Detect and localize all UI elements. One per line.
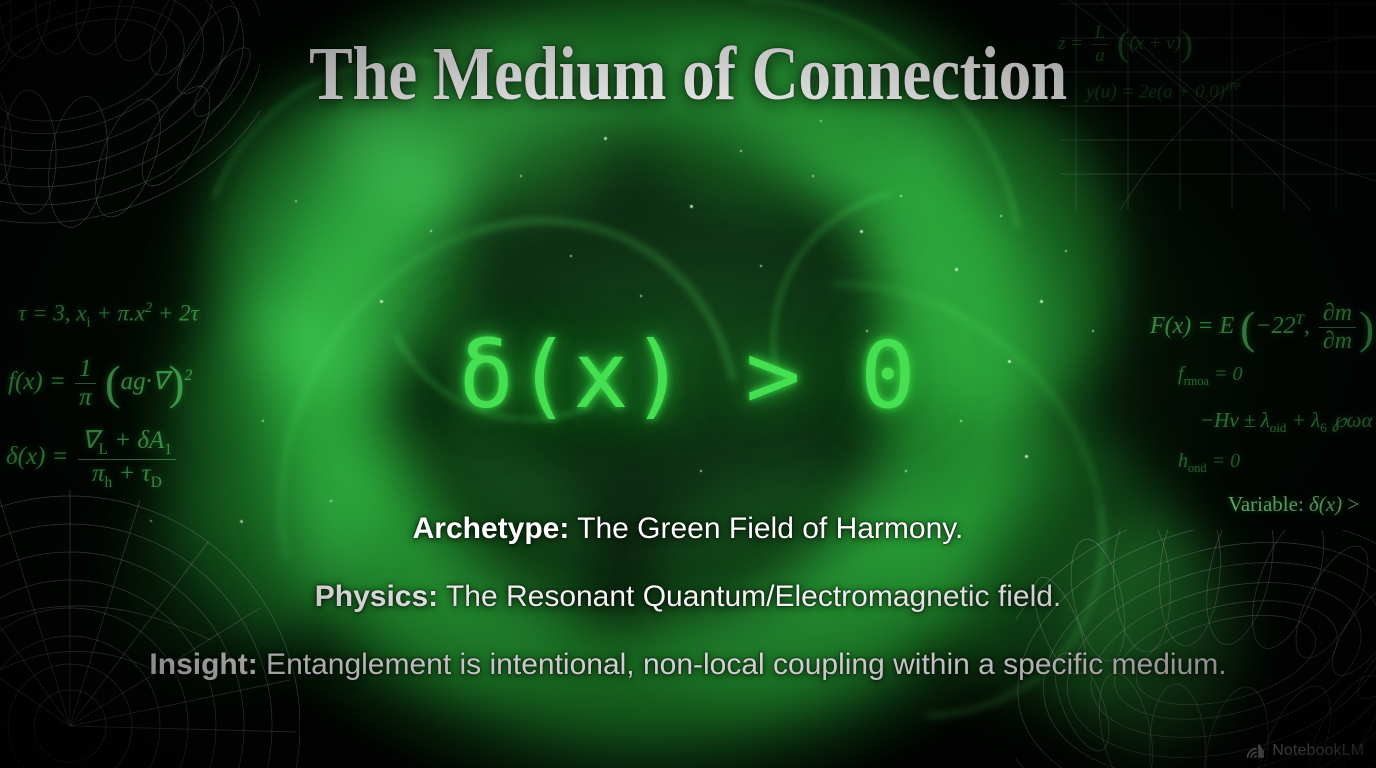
particle — [905, 470, 907, 472]
line-label: Insight: — [149, 648, 257, 681]
bullet-lines: Archetype: The Green Field of Harmony. P… — [0, 512, 1376, 681]
line-text: The Green Field of Harmony. — [569, 512, 963, 545]
particle — [955, 268, 958, 271]
particle — [1040, 300, 1043, 303]
particle — [700, 470, 702, 472]
line-label: Archetype: — [413, 512, 570, 545]
particle — [520, 175, 522, 177]
list-item: Insight: Entanglement is intentional, no… — [0, 648, 1376, 681]
particle — [900, 195, 902, 197]
particle — [812, 175, 814, 177]
particle — [760, 265, 762, 267]
particle — [860, 230, 863, 233]
particle — [1025, 455, 1028, 458]
particle — [740, 150, 742, 152]
slide-canvas: z = La ((x + v)) y(u) = 2e(a + 0.0)BΨ τ … — [0, 0, 1376, 768]
central-equation: δ(x) > 0 — [0, 330, 1376, 422]
line-text: Entanglement is intentional, non-local c… — [258, 648, 1227, 681]
particle — [430, 230, 432, 232]
particle — [820, 120, 822, 122]
particle — [295, 200, 297, 202]
line-label: Physics: — [315, 580, 438, 613]
particle — [604, 137, 607, 140]
list-item: Physics: The Resonant Quantum/Electromag… — [0, 580, 1376, 613]
notebooklm-label: NotebookLM — [1272, 742, 1364, 760]
particle — [380, 300, 383, 303]
page-title: The Medium of Connection — [96, 36, 1279, 112]
particle — [1000, 215, 1002, 217]
notebooklm-watermark: NotebookLM — [1246, 742, 1364, 760]
particle — [1065, 250, 1067, 252]
particle — [640, 295, 642, 297]
particle — [570, 255, 572, 257]
list-item: Archetype: The Green Field of Harmony. — [0, 512, 1376, 545]
notebooklm-logo-icon — [1246, 743, 1265, 759]
particle — [690, 205, 693, 208]
line-text: The Resonant Quantum/Electromagnetic fie… — [438, 580, 1061, 613]
particle — [330, 500, 332, 502]
